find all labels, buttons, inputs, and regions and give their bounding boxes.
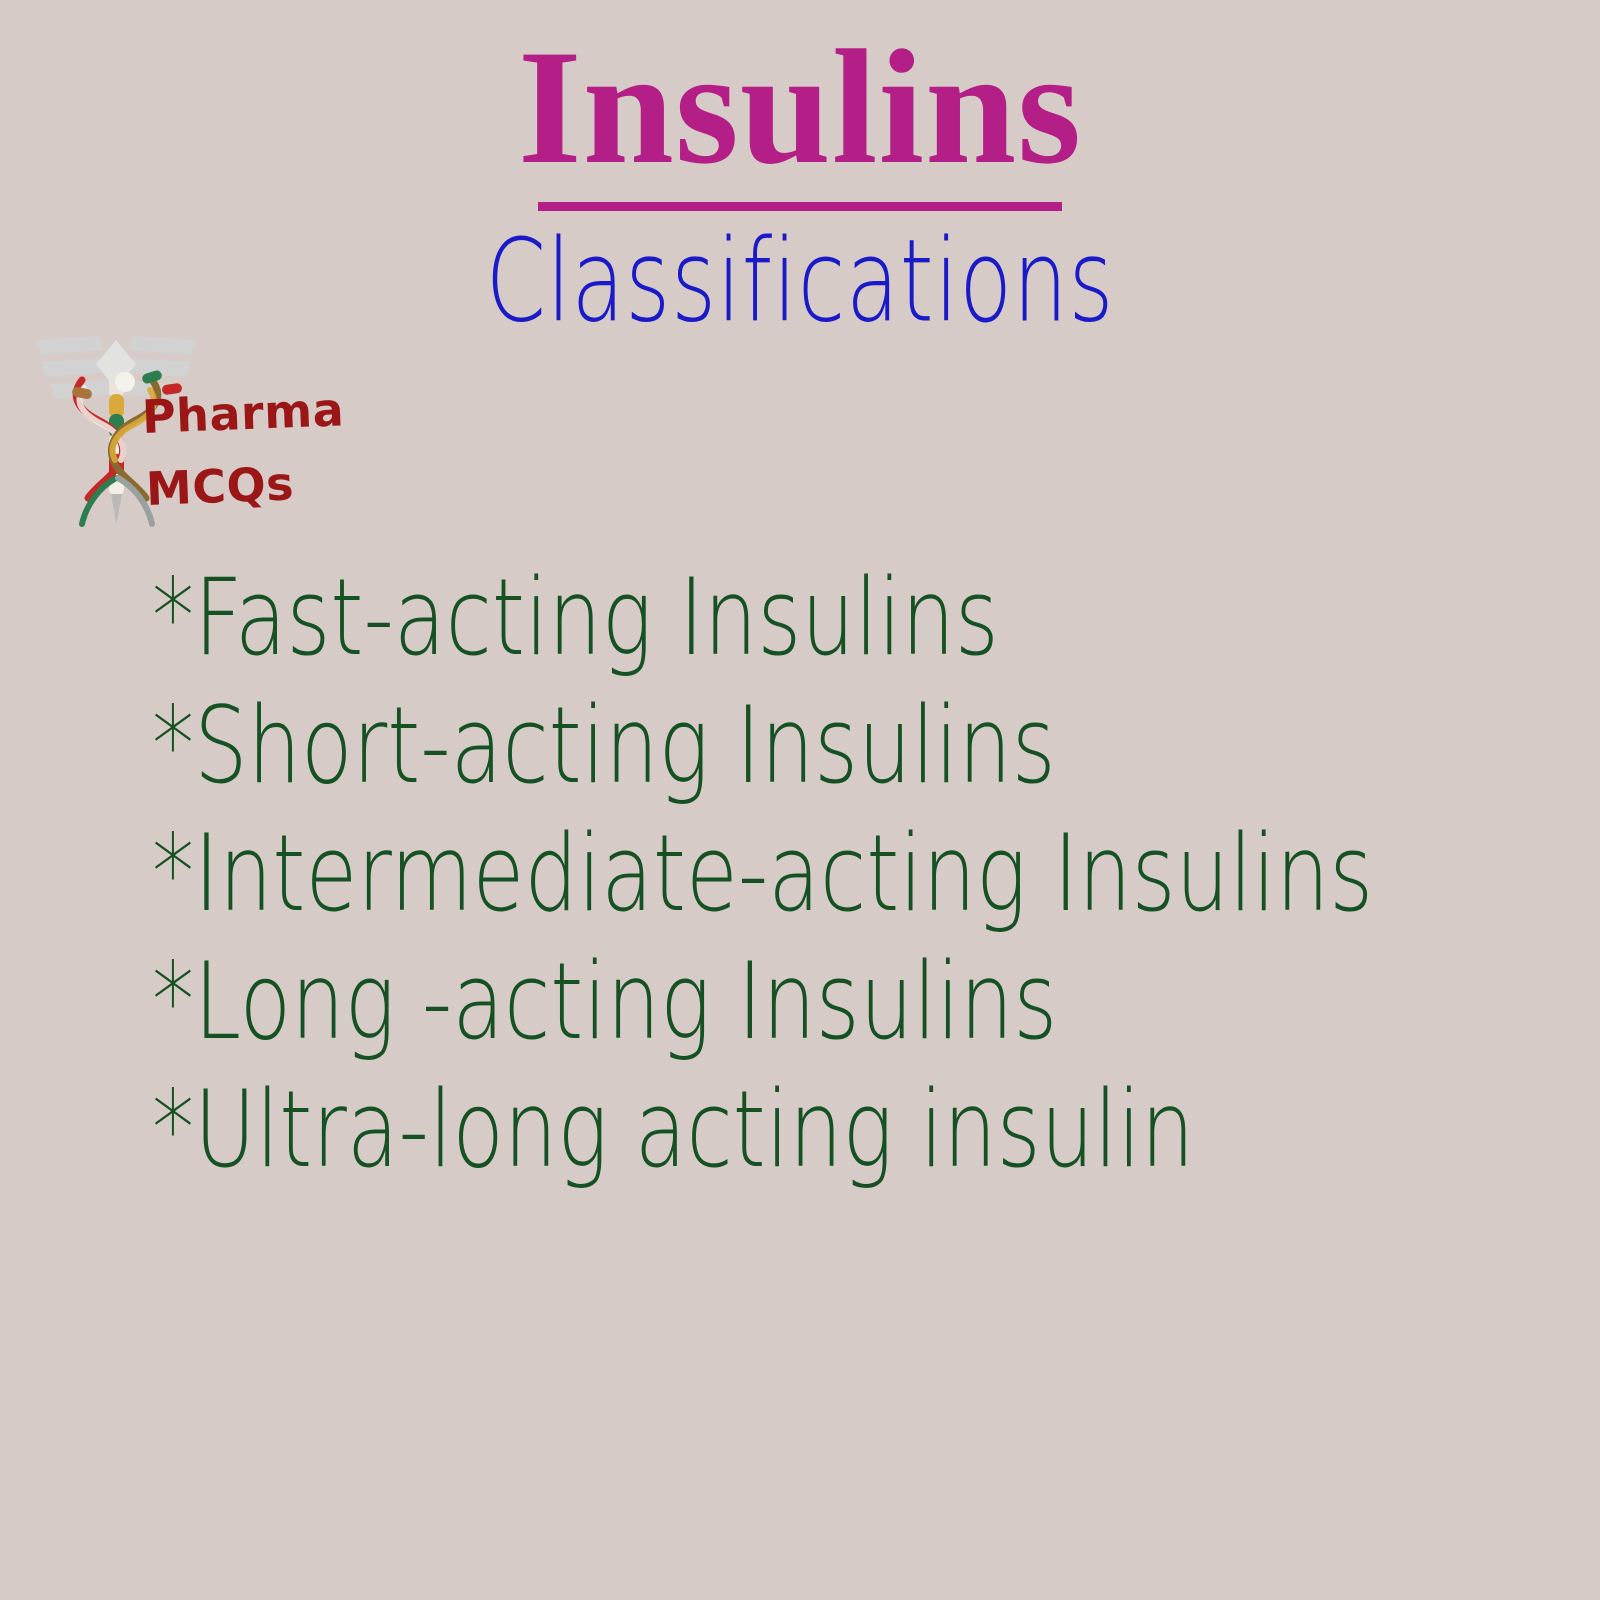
logo-text-mcqs: MCQs: [145, 456, 295, 516]
page-title: Insulins: [0, 26, 1600, 211]
list-item-label: Short-acting Insulins: [194, 684, 1055, 807]
subtitle-text: Classifications: [486, 222, 1115, 342]
insulin-classification-list: *Fast-acting Insulins *Short-acting Insu…: [152, 554, 1592, 1194]
title-underline-rule: [538, 202, 1062, 211]
list-item-label: Ultra-long acting insulin: [194, 1068, 1194, 1191]
list-item: *Intermediate-acting Insulins: [152, 810, 1297, 938]
list-item-label: Intermediate-acting Insulins: [194, 812, 1373, 935]
bullet-marker: *: [152, 556, 194, 679]
bullet-marker: *: [152, 940, 194, 1063]
list-item-label: Long -acting Insulins: [194, 940, 1057, 1063]
bullet-marker: *: [152, 684, 194, 807]
list-item: *Long -acting Insulins: [152, 938, 1297, 1066]
bullet-marker: *: [152, 1068, 194, 1191]
list-item: *Short-acting Insulins: [152, 682, 1297, 810]
page-subtitle: Classifications: [0, 222, 1600, 335]
list-item: *Fast-acting Insulins: [152, 554, 1297, 682]
list-item: *Ultra-long acting insulin: [152, 1066, 1297, 1194]
bullet-marker: *: [152, 812, 194, 935]
list-item-label: Fast-acting Insulins: [194, 556, 999, 679]
pharma-mcqs-logo: Pharma MCQs: [24, 328, 374, 538]
title-text: Insulins: [512, 26, 1088, 190]
slide-canvas: Insulins Classifications: [0, 0, 1600, 1600]
logo-text-pharma: Pharma: [141, 382, 345, 444]
